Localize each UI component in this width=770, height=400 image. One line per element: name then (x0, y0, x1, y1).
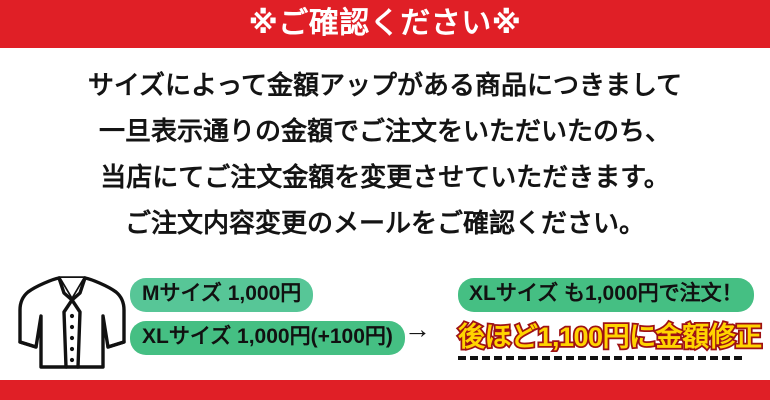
before-price-group: Mサイズ 1,000円 XLサイズ 1,000円(+100円) (130, 278, 405, 355)
dress-shirt-icon (16, 270, 128, 374)
dashed-underline (458, 356, 742, 360)
size-price-notice-banner: ※ご確認ください※ サイズによって金額アップがある商品につきまして 一旦表示通り… (0, 0, 770, 400)
notice-line-3: 当店にてご注文金額を変更させていただきます。 (0, 154, 770, 200)
price-pill-m-size: Mサイズ 1,000円 (130, 278, 313, 312)
price-pill-xl-size: XLサイズ 1,000円(+100円) (130, 321, 405, 355)
price-comparison-row: Mサイズ 1,000円 XLサイズ 1,000円(+100円) → XLサイズ … (0, 268, 770, 376)
after-price-group: XLサイズ も1,000円で注文！ 後ほど1,100円に金額修正 (458, 278, 762, 360)
notice-line-1: サイズによって金額アップがある商品につきまして (0, 62, 770, 108)
page-title: ※ご確認ください※ (249, 9, 522, 39)
notice-line-2: 一旦表示通りの金額でご注文をいただいたのち、 (0, 108, 770, 154)
price-correction-note: 後ほど1,100円に金額修正 (458, 321, 762, 353)
footer-bar (0, 380, 770, 400)
notice-body: サイズによって金額アップがある商品につきまして 一旦表示通りの金額でご注文をいた… (0, 62, 770, 246)
order-note-pill: XLサイズ も1,000円で注文！ (458, 278, 754, 312)
notice-line-4: ご注文内容変更のメールをご確認ください。 (0, 200, 770, 246)
right-arrow-icon: → (404, 316, 431, 343)
header-bar: ※ご確認ください※ (0, 0, 770, 48)
